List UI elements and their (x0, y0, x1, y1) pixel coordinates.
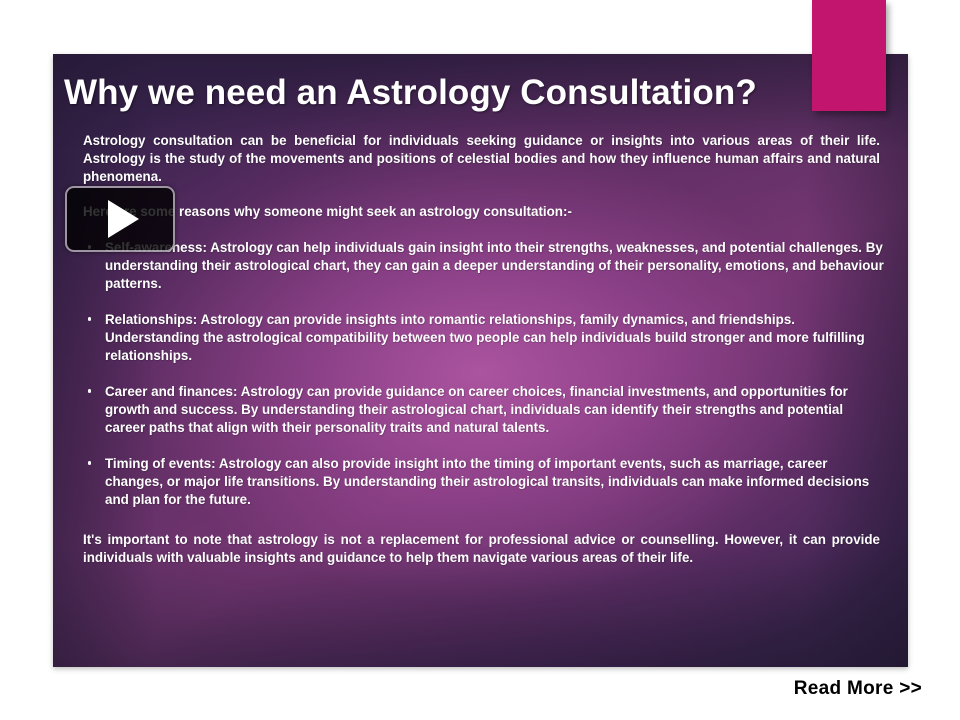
intro-paragraph: Astrology consultation can be beneficial… (83, 132, 880, 185)
slide-content-panel: Why we need an Astrology Consultation? A… (53, 54, 908, 667)
list-item: Self-awareness: Astrology can help indiv… (77, 239, 884, 293)
slide-body: Astrology consultation can be beneficial… (53, 114, 908, 667)
read-more-link[interactable]: Read More >> (794, 678, 922, 700)
list-item-text: Career and finances: Astrology can provi… (105, 384, 848, 435)
list-item: Relationships: Astrology can provide ins… (77, 311, 884, 365)
title-band: Why we need an Astrology Consultation? (53, 54, 908, 112)
play-icon (108, 200, 139, 238)
page-title: Why we need an Astrology Consultation? (64, 75, 757, 110)
list-item: Career and finances: Astrology can provi… (77, 383, 884, 437)
bullet-dot-icon (88, 389, 91, 392)
list-item-text: Timing of events: Astrology can also pro… (105, 456, 869, 507)
magenta-accent-bar (812, 0, 886, 111)
list-item-text: Relationships: Astrology can provide ins… (105, 312, 865, 363)
closing-paragraph: It's important to note that astrology is… (83, 531, 880, 567)
bullet-dot-icon (88, 317, 91, 320)
bullet-dot-icon (88, 461, 91, 464)
play-button[interactable] (65, 186, 175, 252)
list-item: Timing of events: Astrology can also pro… (77, 455, 884, 509)
reasons-bullet-list: Self-awareness: Astrology can help indiv… (77, 239, 884, 509)
presentation-slide: Why we need an Astrology Consultation? A… (0, 0, 960, 720)
lead-in-paragraph: Here are some reasons why someone might … (83, 203, 880, 221)
list-item-text: Self-awareness: Astrology can help indiv… (105, 240, 884, 291)
